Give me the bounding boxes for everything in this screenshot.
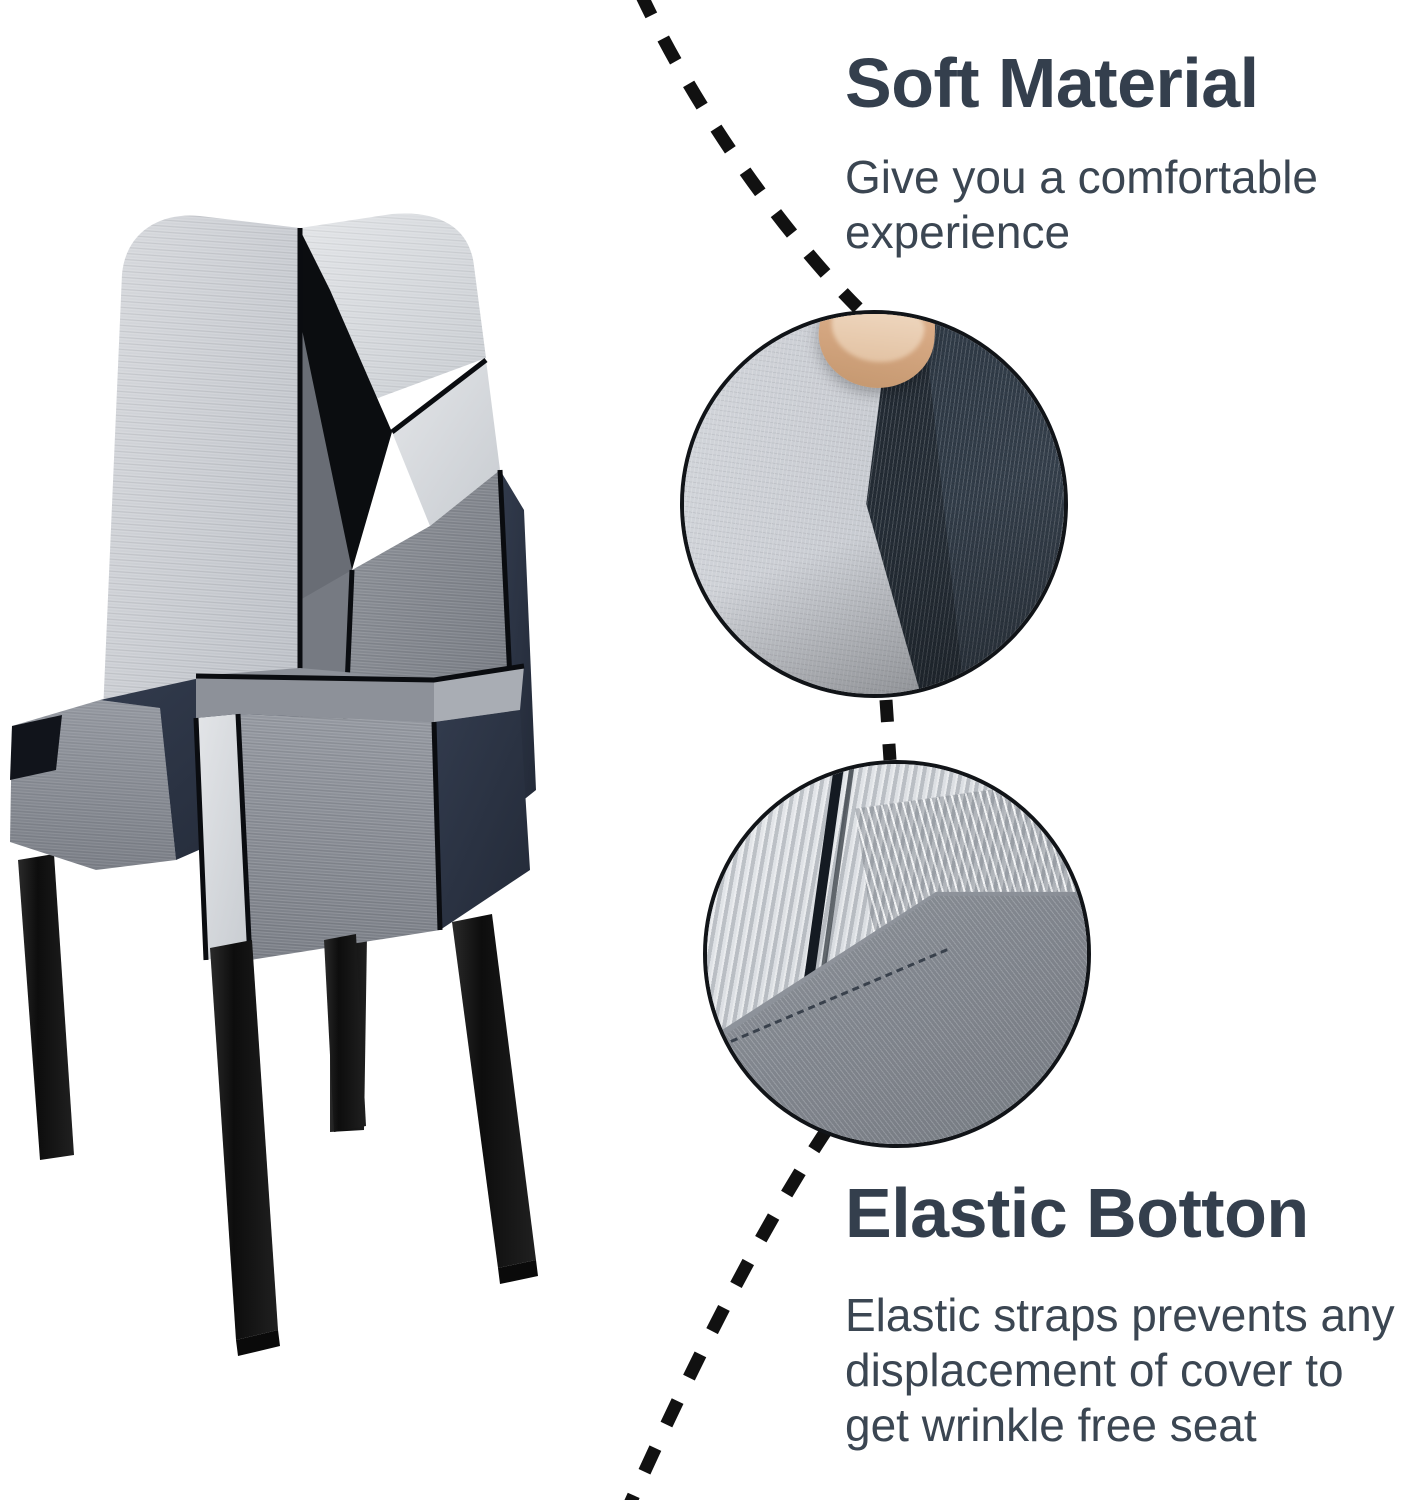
- fabric-pinch-icon: [680, 310, 1068, 698]
- chair-leg-front-right: [452, 914, 538, 1284]
- circle-link-dashed-line: [886, 700, 890, 760]
- feature-description-soft-material: Give you a comfortable experience: [845, 150, 1365, 260]
- chair-skirt-navy-block: [434, 710, 530, 930]
- chair-leg-front-left: [210, 940, 280, 1356]
- product-chair-image: [0, 170, 700, 1400]
- feature-description-elastic-bottom: Elastic straps prevents any displacement…: [845, 1288, 1410, 1454]
- feature-title-elastic-bottom: Elastic Botton: [845, 1178, 1410, 1248]
- feature-title-soft-material: Soft Material: [845, 48, 1365, 118]
- chair-leg-rear-left: [18, 854, 74, 1160]
- elastic-hem-icon: [703, 760, 1091, 1148]
- chair-seat-left-dark-wedge: [10, 715, 62, 780]
- feature-block-elastic-bottom: Elastic Botton Elastic straps prevents a…: [845, 1178, 1410, 1454]
- feature-block-soft-material: Soft Material Give you a comfortable exp…: [845, 48, 1365, 260]
- infographic-canvas: Soft Material Give you a comfortable exp…: [0, 0, 1418, 1500]
